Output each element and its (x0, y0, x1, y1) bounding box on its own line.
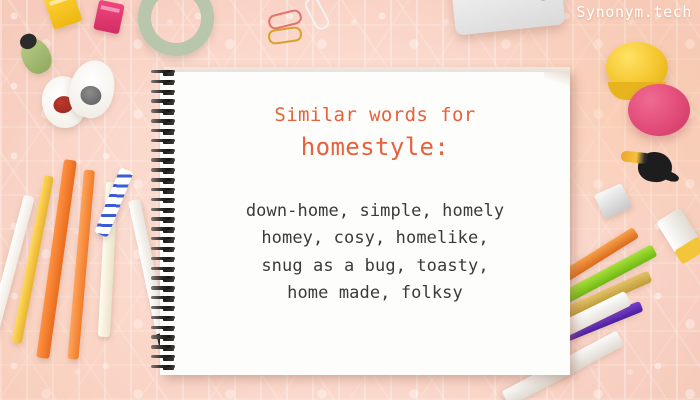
spiral-ring (151, 188, 175, 193)
spiral-ring (151, 365, 175, 370)
spiral-ring (151, 345, 175, 350)
spiral-ring (151, 158, 175, 163)
spiral-ring (151, 139, 175, 144)
synonym-card: Similar words for homestyle: down-home, … (0, 0, 700, 400)
spiral-ring (151, 296, 175, 301)
spiral-ring (151, 99, 175, 104)
spiral-ring (151, 198, 175, 203)
spiral-ring (151, 70, 175, 75)
spiral-ring (151, 109, 175, 114)
spiral-ring (151, 355, 175, 360)
spiral-ring (151, 80, 175, 85)
pink-macaron-object (628, 84, 690, 136)
synonym-line: homey, cosy, homelike, (180, 225, 570, 253)
spiral-binding (151, 70, 177, 370)
page-content: Similar words for homestyle: down-home, … (180, 72, 570, 375)
synonym-line: snug as a bug, toasty, (180, 253, 570, 281)
synonym-line: down-home, simple, homely (180, 198, 570, 226)
page-title: Similar words for (180, 104, 570, 128)
synonym-list: down-home, simple, homely homey, cosy, h… (180, 198, 570, 308)
synonym-line: home made, folksy (180, 280, 570, 308)
spiral-ring (151, 276, 175, 281)
spiral-ring (151, 247, 175, 252)
notebook: Similar words for homestyle: down-home, … (158, 62, 572, 375)
spiral-ring (151, 168, 175, 173)
spiral-ring (151, 90, 175, 95)
spiral-ring (151, 217, 175, 222)
spiral-ring (151, 286, 175, 291)
spiral-ring (151, 119, 175, 124)
spiral-ring (151, 129, 175, 134)
spiral-ring (151, 257, 175, 262)
spiral-ring (151, 306, 175, 311)
spiral-ring (151, 335, 175, 340)
spiral-ring (151, 208, 175, 213)
spiral-ring (151, 237, 175, 242)
brand-watermark: Synonym.tech (576, 3, 692, 21)
spiral-ring (151, 316, 175, 321)
headword: homestyle: (180, 132, 570, 162)
spiral-ring (151, 227, 175, 232)
spiral-ring (151, 326, 175, 331)
spiral-ring (151, 178, 175, 183)
notebook-page: Similar words for homestyle: down-home, … (160, 72, 570, 375)
spiral-ring (151, 149, 175, 154)
spiral-ring (151, 267, 175, 272)
